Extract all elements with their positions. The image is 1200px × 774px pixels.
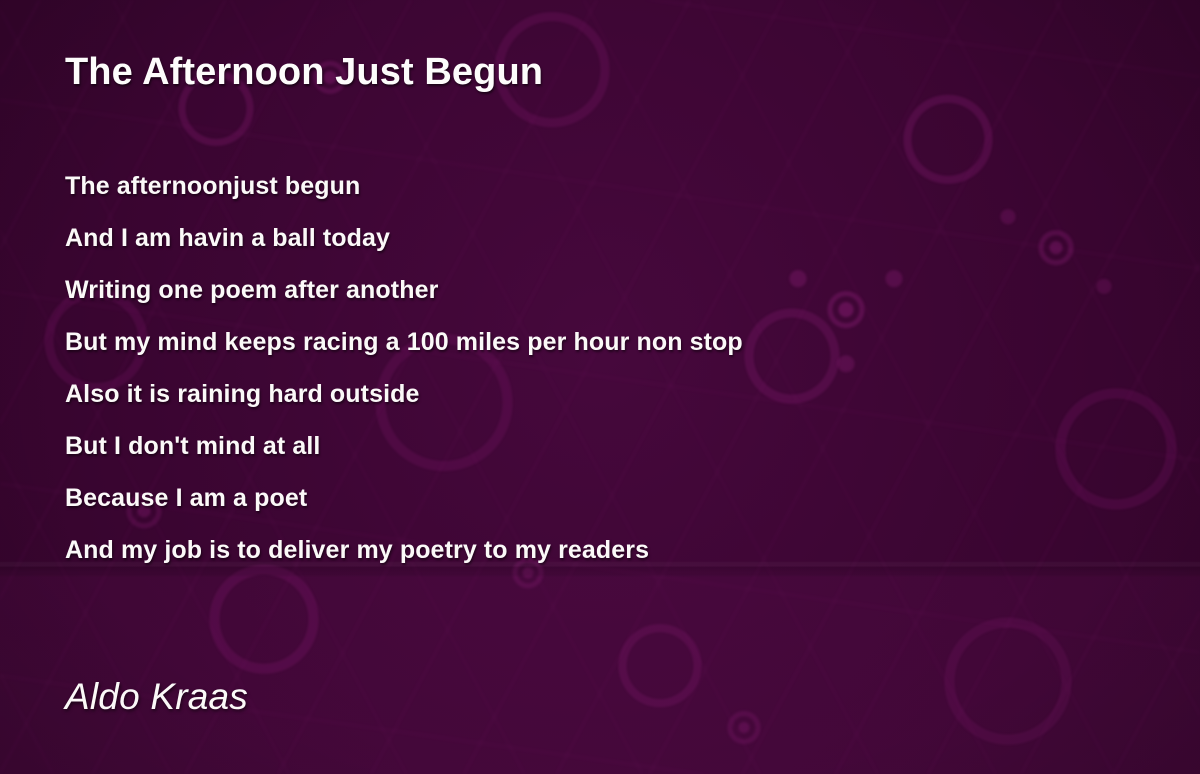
poem-line: Writing one poem after another: [65, 264, 743, 316]
poem-line: But I don't mind at all: [65, 420, 743, 472]
poem-line: Because I am a poet: [65, 472, 743, 524]
poem-line: Also it is raining hard outside: [65, 368, 743, 420]
poem-line: The afternoonjust begun: [65, 160, 743, 212]
poem-line: But my mind keeps racing a 100 miles per…: [65, 316, 743, 368]
poem-image-card: The Afternoon Just Begun The afternoonju…: [0, 0, 1200, 774]
poem-body: The afternoonjust begun And I am havin a…: [65, 160, 743, 576]
poem-line: And I am havin a ball today: [65, 212, 743, 264]
poem-title: The Afternoon Just Begun: [65, 52, 543, 94]
poem-line: And my job is to deliver my poetry to my…: [65, 524, 743, 576]
poem-author: Aldo Kraas: [65, 676, 248, 718]
